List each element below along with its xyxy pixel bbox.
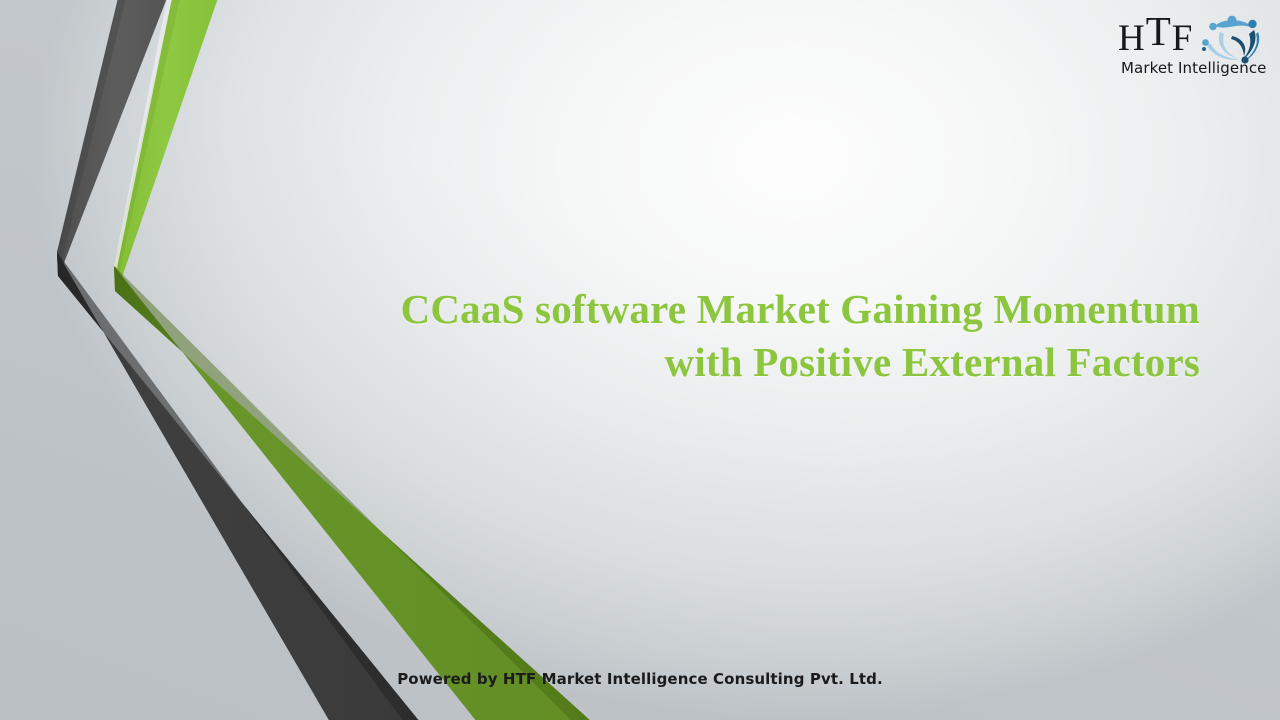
htf-logo: HTF Market Intell bbox=[1118, 14, 1270, 88]
page-title: CCaaS software Market Gaining Momentum w… bbox=[360, 283, 1200, 390]
logo-letter-h: H bbox=[1118, 18, 1146, 59]
logo-tagline: Market Intelligence bbox=[1121, 59, 1267, 77]
title-line-1: CCaaS software Market Gaining Momentum bbox=[360, 283, 1200, 336]
logo-wordmark: HTF bbox=[1118, 16, 1193, 57]
presentation-slide: CCaaS software Market Gaining Momentum w… bbox=[0, 0, 1280, 720]
logo-letter-f: F bbox=[1172, 18, 1194, 59]
title-line-2: with Positive External Factors bbox=[360, 336, 1200, 389]
footer-credit: Powered by HTF Market Intelligence Consu… bbox=[0, 670, 1280, 688]
logo-letter-t: T bbox=[1146, 8, 1172, 54]
